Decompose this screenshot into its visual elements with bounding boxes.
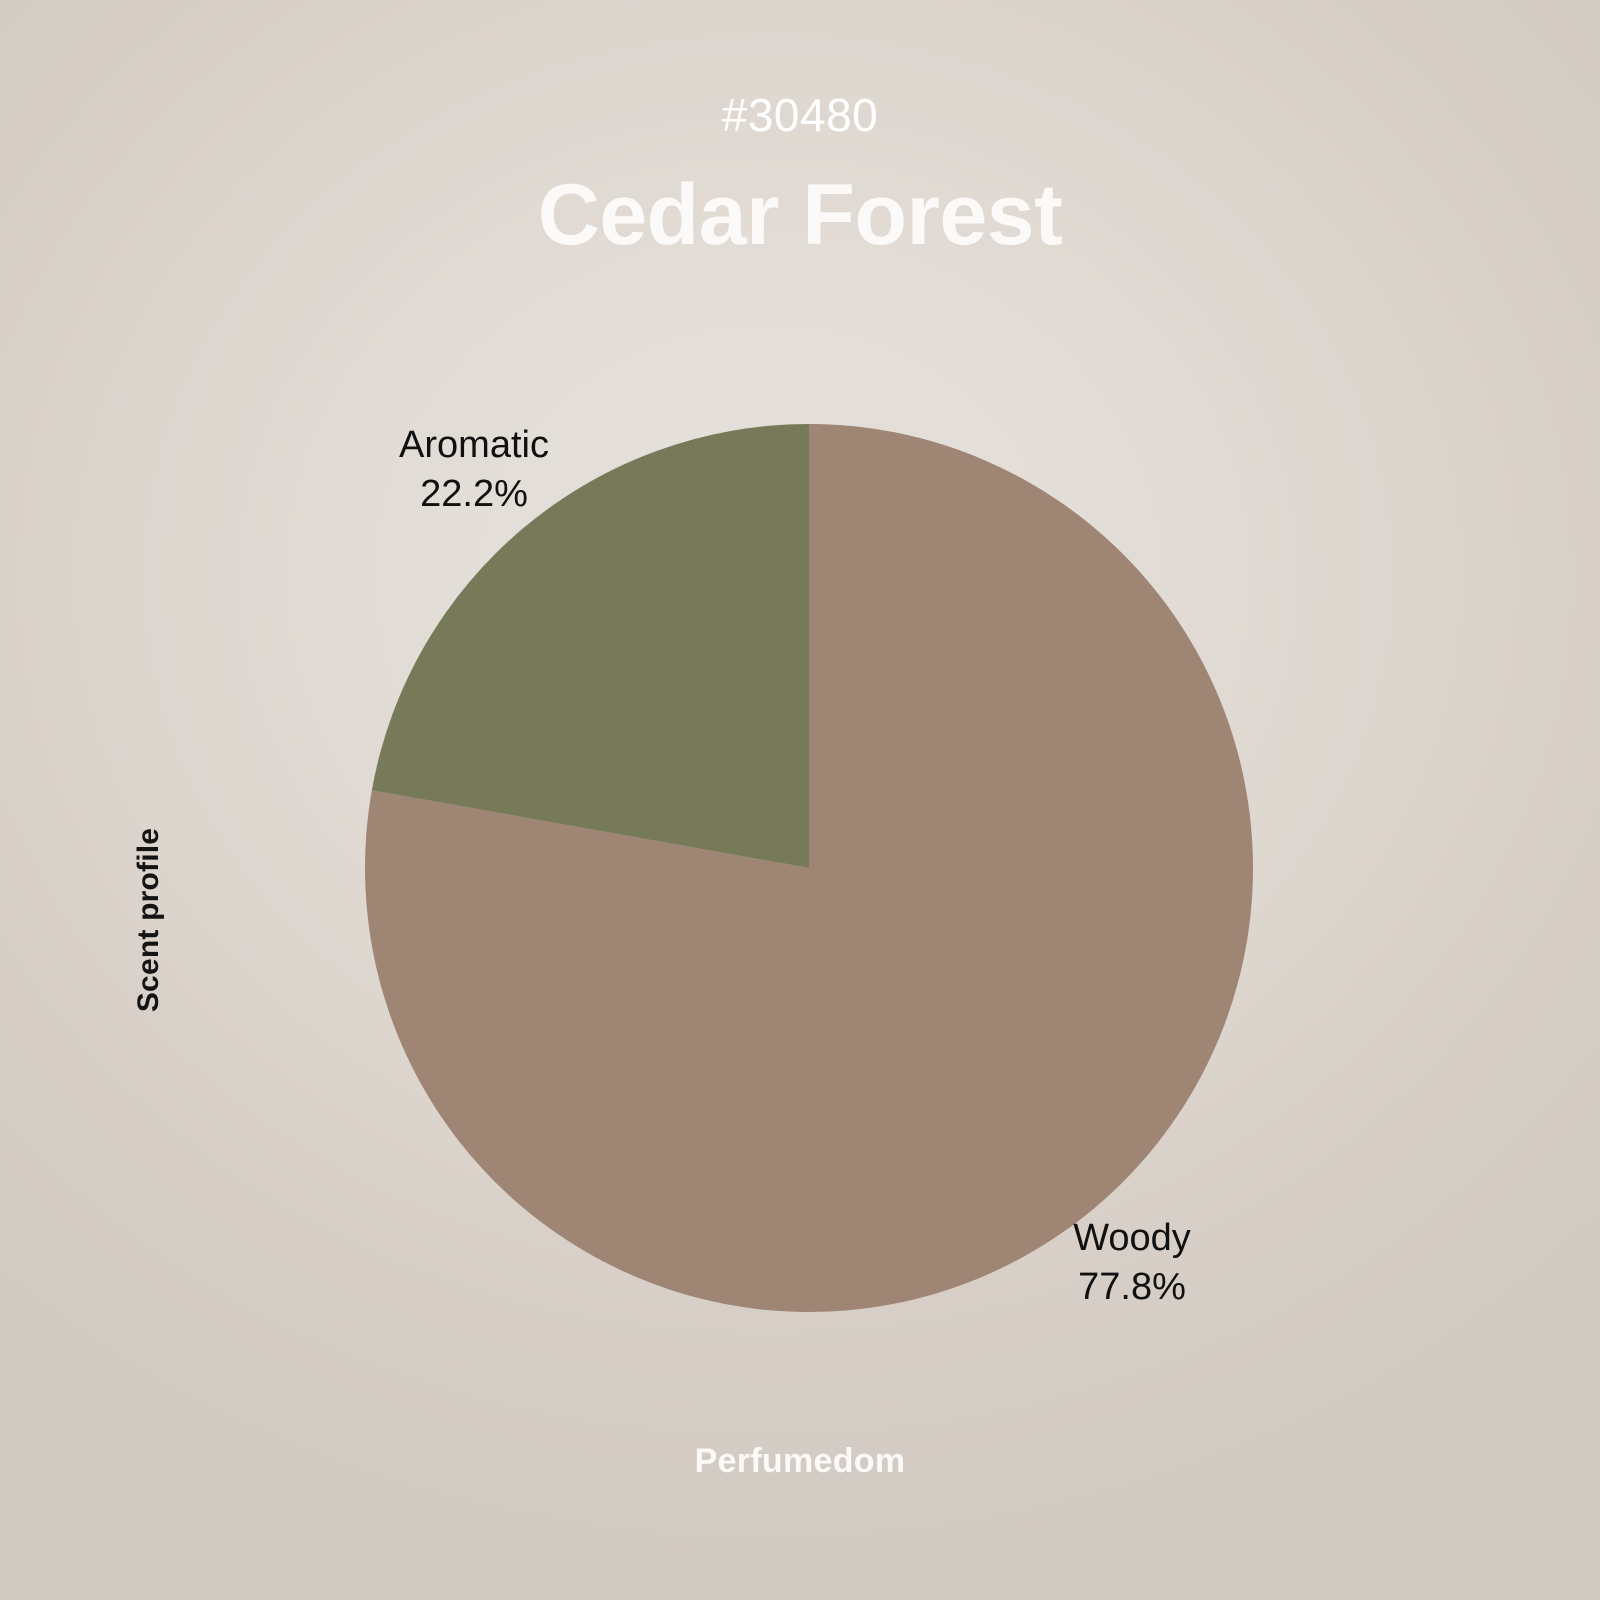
pie-label-aromatic-percent: 22.2% <box>392 470 556 519</box>
y-axis-caption: Scent profile <box>132 740 172 1100</box>
pie-svg <box>365 424 1253 1312</box>
pie-label-woody: Woody 77.8% <box>1062 1214 1202 1313</box>
series-id-label: #30480 <box>0 92 1600 138</box>
pie-label-woody-name: Woody <box>1062 1214 1202 1263</box>
chart-header: #30480 Cedar Forest <box>0 0 1600 258</box>
page-title: Cedar Forest <box>0 172 1600 258</box>
pie-label-aromatic: Aromatic 22.2% <box>392 421 556 520</box>
x-axis-caption: Perfumedom <box>0 1442 1600 1481</box>
pie-chart <box>365 424 1253 1312</box>
pie-label-woody-percent: 77.8% <box>1062 1263 1202 1312</box>
chart-canvas: #30480 Cedar Forest Scent profile Aromat… <box>0 0 1600 1600</box>
pie-label-aromatic-name: Aromatic <box>392 421 556 470</box>
